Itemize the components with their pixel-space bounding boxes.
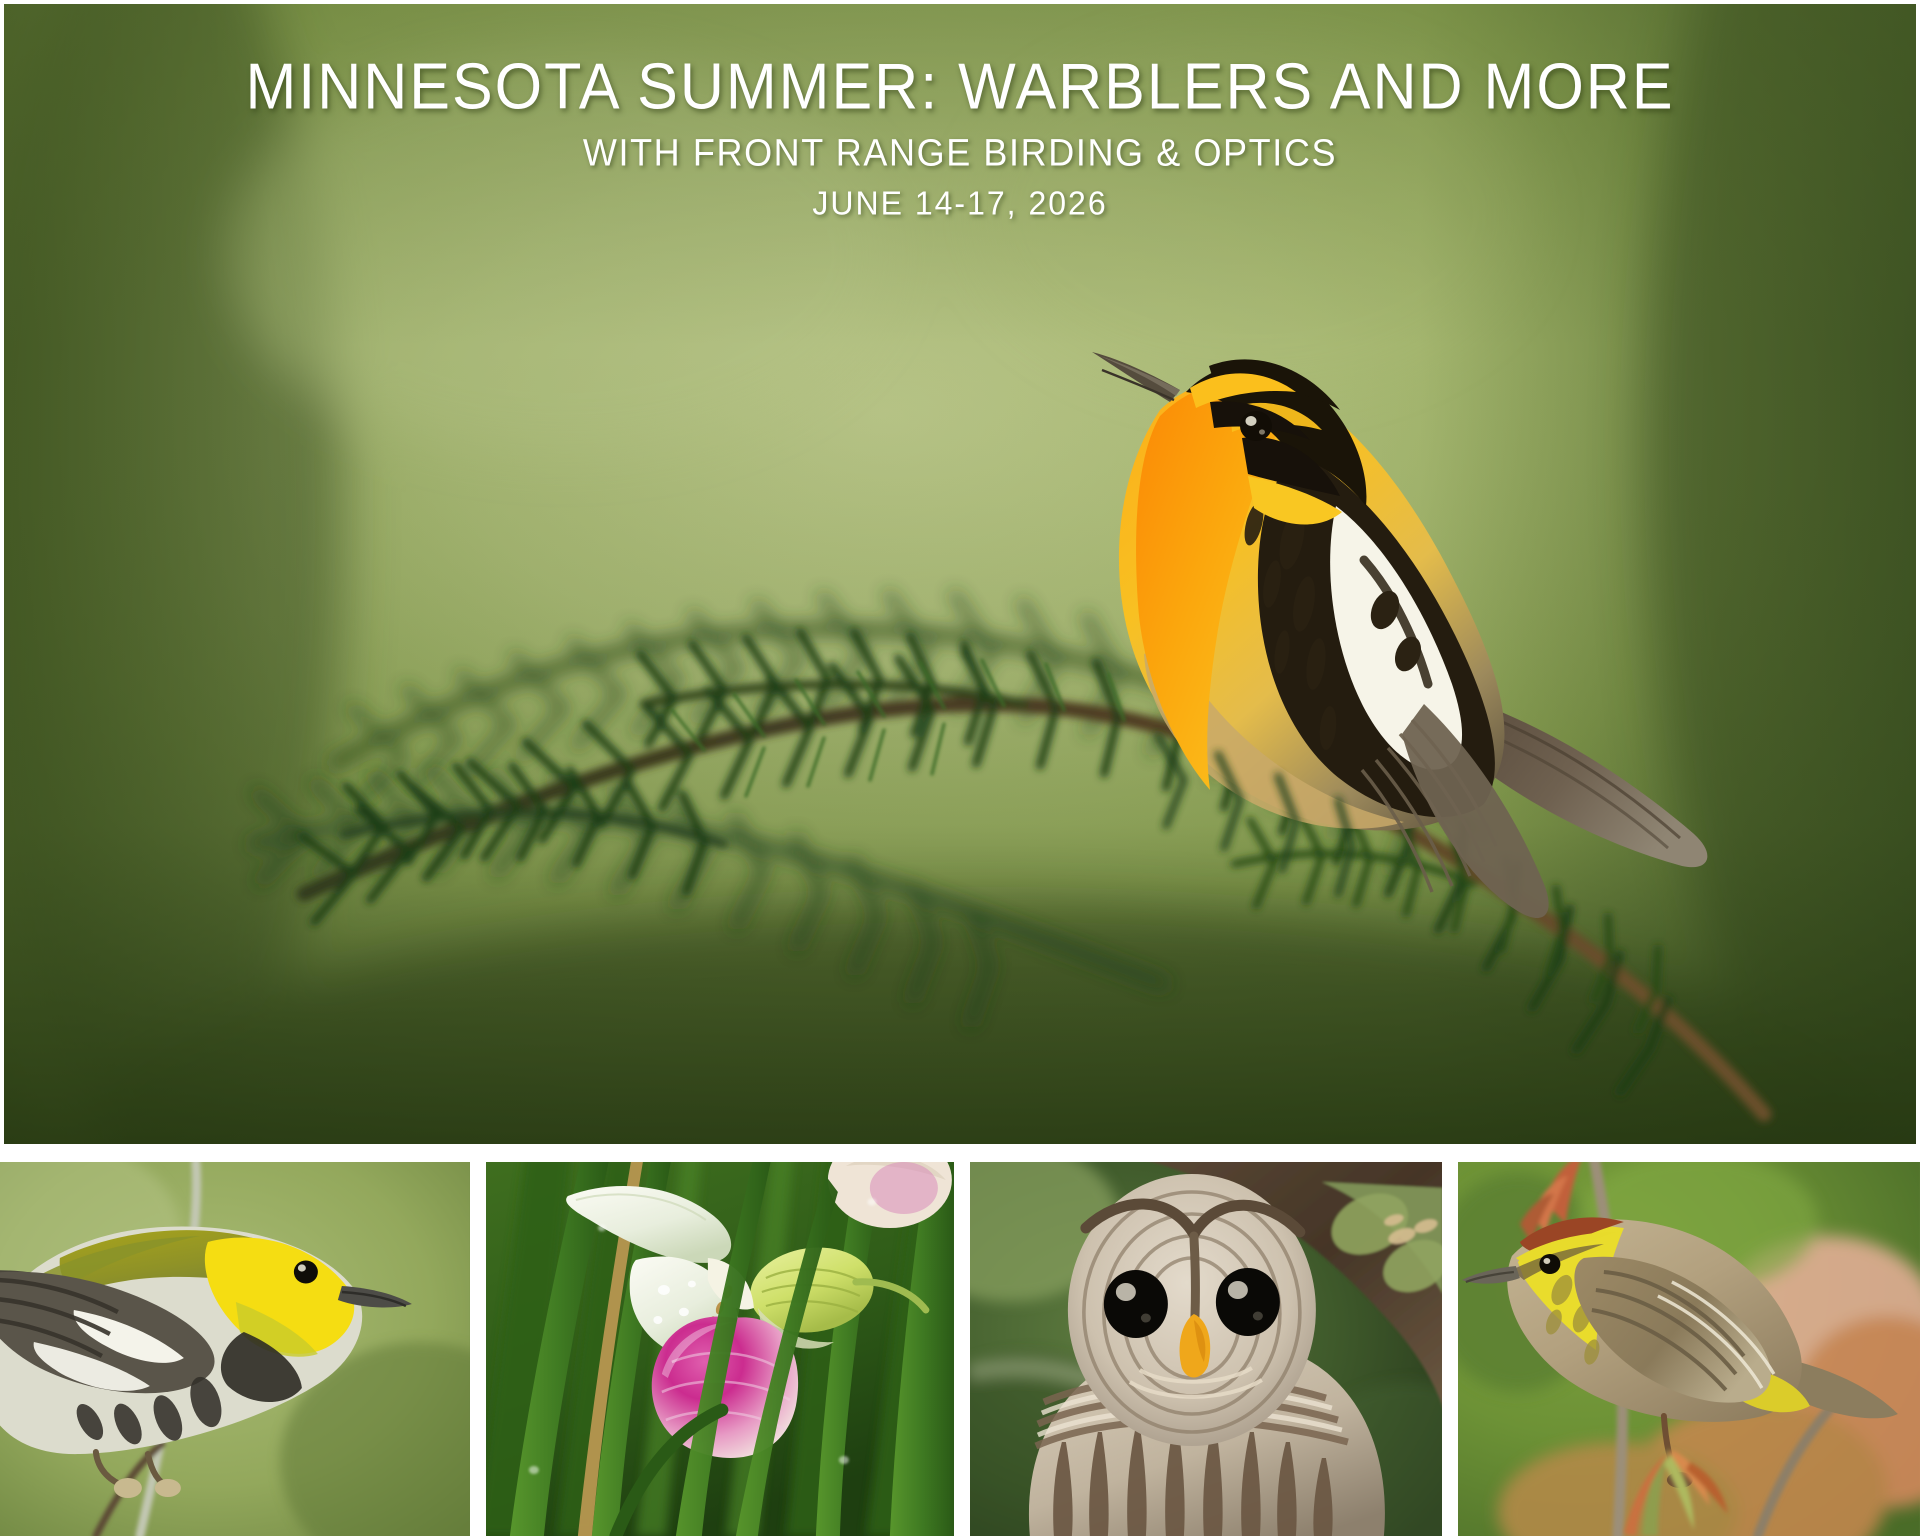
hero-image: Minnesota Summer: Warblers and More With…: [4, 4, 1916, 1144]
thumbnail-showy-ladys-slipper-orchid: [486, 1162, 954, 1536]
thumbnail-black-throated-green-warbler: [0, 1162, 470, 1536]
blackburnian-warbler-photo: [4, 4, 1916, 1144]
thumbnail-palm-warbler: [1458, 1162, 1920, 1536]
poster-root: Minnesota Summer: Warblers and More With…: [0, 0, 1920, 1536]
thumbnail-barred-owl: [970, 1162, 1443, 1536]
thumbnail-row: [0, 1162, 1920, 1536]
